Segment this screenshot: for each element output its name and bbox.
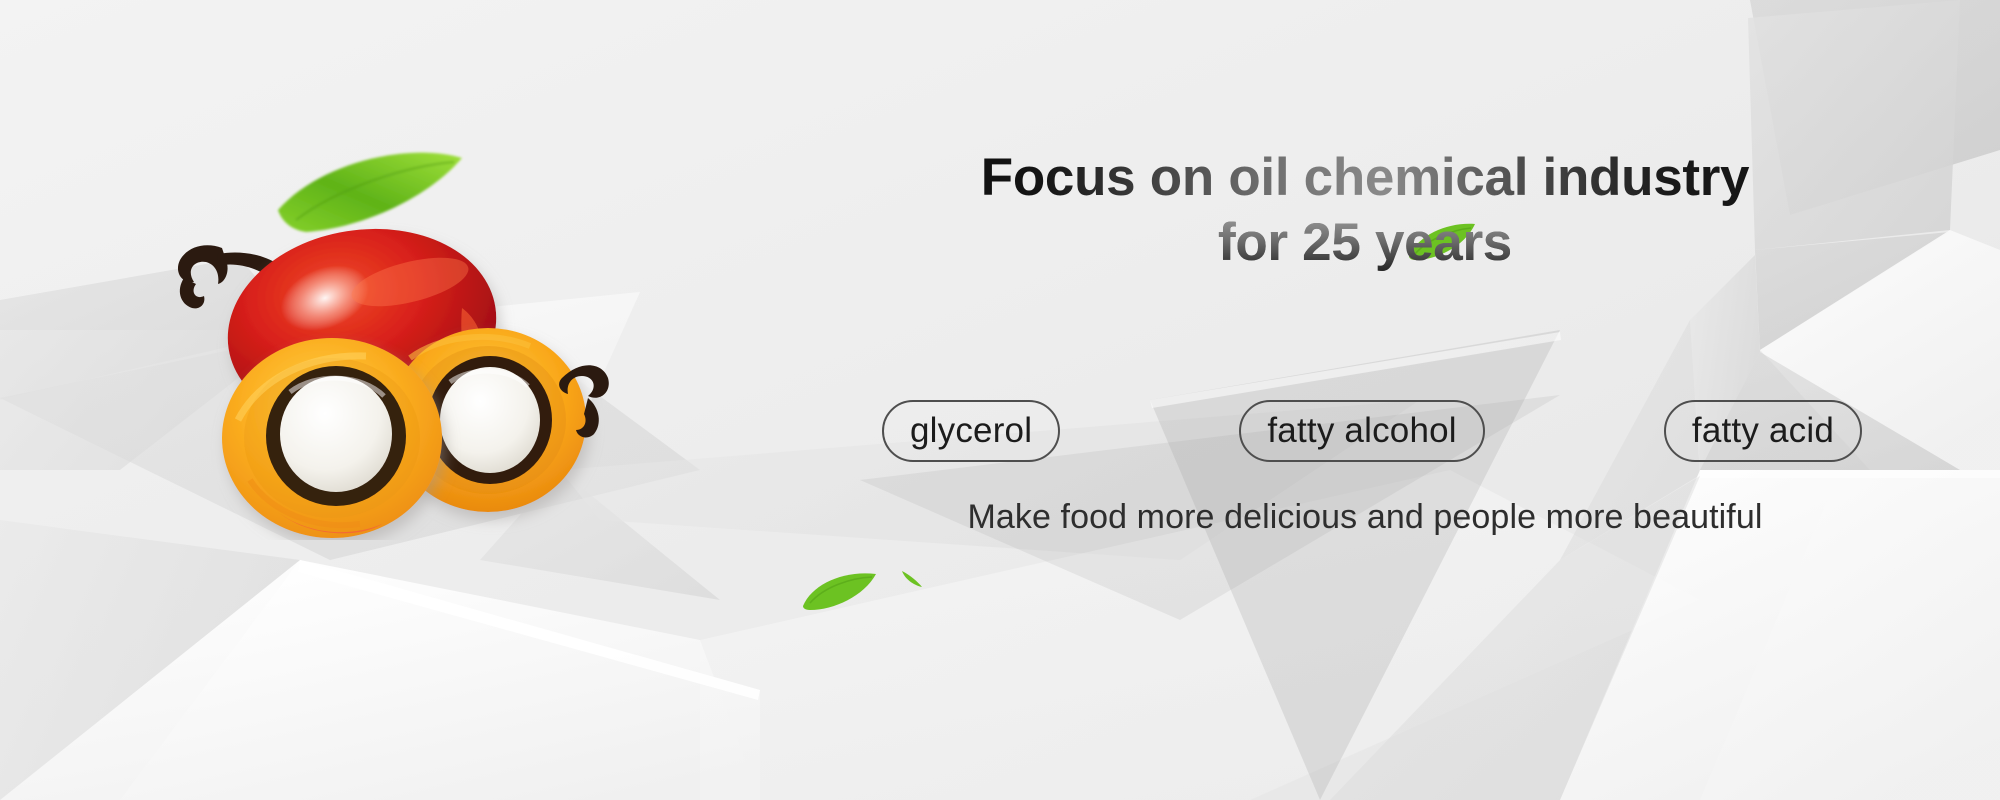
leaf-sliver-icon <box>900 568 926 588</box>
banner-content: Focus on oil chemical industry for 25 ye… <box>860 150 1870 610</box>
chip-label: glycerol <box>910 411 1032 451</box>
headline-line-1: Focus on oil chemical industry <box>981 148 1749 207</box>
palm-fruit-half-left <box>222 338 442 538</box>
headline-line-2: for 25 years <box>860 215 1870 272</box>
chip-glycerol[interactable]: glycerol <box>882 400 1060 462</box>
leaf-icon <box>800 570 880 612</box>
palm-fruit-image <box>110 120 630 540</box>
chip-label: fatty alcohol <box>1267 411 1456 451</box>
product-chip-group: glycerol fatty alcohol fatty acid <box>882 400 1862 462</box>
promo-banner: Focus on oil chemical industry for 25 ye… <box>0 0 2000 800</box>
palm-leaf-icon <box>278 153 462 232</box>
chip-fatty-alcohol[interactable]: fatty alcohol <box>1239 400 1484 462</box>
tagline: Make food more delicious and people more… <box>860 498 1870 537</box>
chip-label: fatty acid <box>1692 411 1834 451</box>
chip-fatty-acid[interactable]: fatty acid <box>1664 400 1862 462</box>
page-title: Focus on oil chemical industry for 25 ye… <box>860 150 1870 271</box>
